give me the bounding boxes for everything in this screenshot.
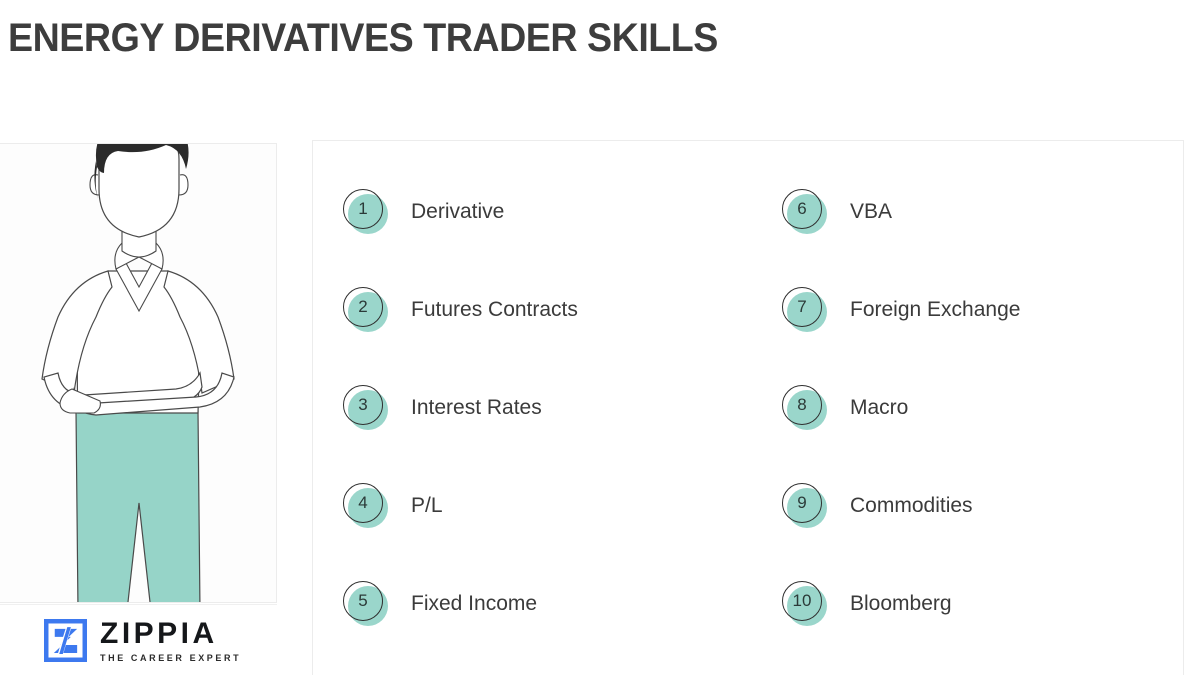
rank-badge-6: 6	[782, 189, 828, 235]
skill-label: VBA	[850, 199, 892, 225]
skill-label: Derivative	[411, 199, 504, 225]
badge-number: 1	[343, 189, 383, 229]
skills-card: 1 Derivative 6 VBA 2 Futures Contracts	[312, 140, 1184, 675]
rank-badge-5: 5	[343, 581, 389, 627]
skill-label: Commodities	[850, 493, 973, 519]
skills-grid: 1 Derivative 6 VBA 2 Futures Contracts	[313, 141, 1183, 675]
brand-logo: ZIPPIA THE CAREER EXPERT	[0, 604, 277, 675]
rank-badge-7: 7	[782, 287, 828, 333]
skill-item-8[interactable]: 8 Macro	[743, 359, 1183, 457]
badge-number: 8	[782, 385, 822, 425]
skill-label: Foreign Exchange	[850, 297, 1020, 323]
man-with-crossed-arms-line-art	[0, 143, 277, 603]
badge-number: 10	[782, 581, 822, 621]
skill-label: Interest Rates	[411, 395, 542, 421]
skill-item-9[interactable]: 9 Commodities	[743, 457, 1183, 555]
skill-item-2[interactable]: 2 Futures Contracts	[313, 261, 743, 359]
skill-label: Futures Contracts	[411, 297, 578, 323]
rank-badge-8: 8	[782, 385, 828, 431]
rank-badge-10: 10	[782, 581, 828, 627]
rank-badge-2: 2	[343, 287, 389, 333]
illustration-panel	[0, 143, 277, 603]
skill-item-7[interactable]: 7 Foreign Exchange	[743, 261, 1183, 359]
skill-item-3[interactable]: 3 Interest Rates	[313, 359, 743, 457]
skill-item-10[interactable]: 10 Bloomberg	[743, 555, 1183, 653]
skill-label: Fixed Income	[411, 591, 537, 617]
badge-number: 7	[782, 287, 822, 327]
skill-item-6[interactable]: 6 VBA	[743, 163, 1183, 261]
badge-number: 9	[782, 483, 822, 523]
zippia-z-mark-icon	[44, 619, 87, 662]
rank-badge-4: 4	[343, 483, 389, 529]
skill-label: P/L	[411, 493, 443, 519]
skill-item-4[interactable]: 4 P/L	[313, 457, 743, 555]
skill-label: Macro	[850, 395, 908, 421]
badge-number: 4	[343, 483, 383, 523]
badge-number: 5	[343, 581, 383, 621]
page-title: ENERGY DERIVATIVES TRADER SKILLS	[8, 14, 718, 62]
skill-item-1[interactable]: 1 Derivative	[313, 163, 743, 261]
badge-number: 3	[343, 385, 383, 425]
skill-item-5[interactable]: 5 Fixed Income	[313, 555, 743, 653]
logo-wordmark: ZIPPIA	[100, 619, 241, 649]
rank-badge-3: 3	[343, 385, 389, 431]
rank-badge-9: 9	[782, 483, 828, 529]
badge-number: 2	[343, 287, 383, 327]
badge-number: 6	[782, 189, 822, 229]
skill-label: Bloomberg	[850, 591, 952, 617]
rank-badge-1: 1	[343, 189, 389, 235]
logo-tagline: THE CAREER EXPERT	[100, 652, 241, 664]
